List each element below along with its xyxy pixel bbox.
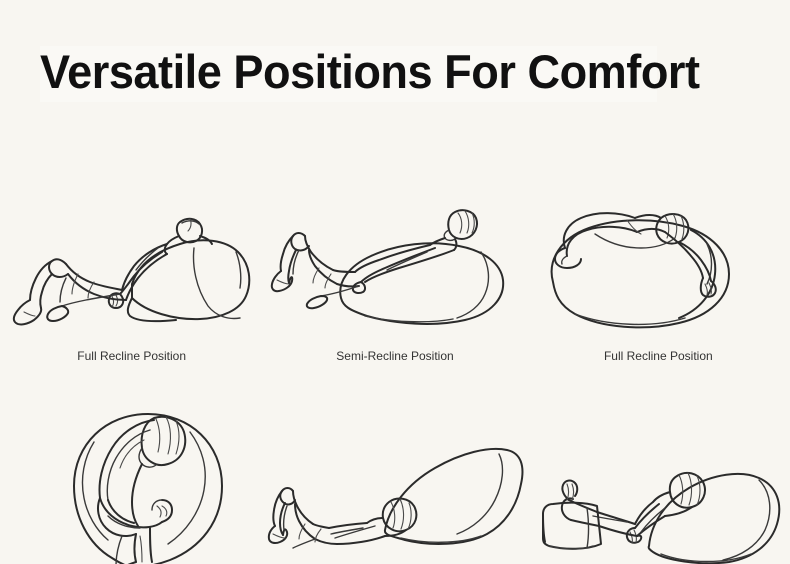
position-caption-3: Full Recline Position bbox=[604, 348, 713, 364]
position-cell-4 bbox=[0, 396, 263, 564]
position-cell-5 bbox=[263, 396, 526, 564]
product-feature-panel: Versatile Positions For Comfort bbox=[0, 0, 790, 564]
position-caption-2: Semi-Recline Position bbox=[336, 348, 453, 364]
person-lying-face-down-on-beanbag-illustration bbox=[531, 186, 786, 346]
positions-row-bottom bbox=[0, 396, 790, 564]
position-cell-1: Full Recline Position bbox=[0, 186, 263, 386]
title-block: Versatile Positions For Comfort bbox=[40, 44, 700, 106]
positions-row-top: Full Recline Position bbox=[0, 186, 790, 386]
person-lying-with-legs-on-ottoman-illustration bbox=[531, 396, 786, 564]
person-curled-sitting-in-round-beanbag-illustration bbox=[4, 396, 259, 564]
person-lying-back-on-round-beanbag-illustration bbox=[267, 186, 522, 346]
position-cell-3: Full Recline Position bbox=[527, 186, 790, 386]
position-cell-6 bbox=[527, 396, 790, 564]
person-lying-flat-with-beanbag-backrest-illustration bbox=[267, 396, 522, 564]
page-title: Versatile Positions For Comfort bbox=[40, 44, 674, 100]
person-reclining-on-beanbag-wedge-illustration bbox=[4, 186, 259, 346]
position-caption-1: Full Recline Position bbox=[77, 348, 186, 364]
position-cell-2: Semi-Recline Position bbox=[263, 186, 526, 386]
